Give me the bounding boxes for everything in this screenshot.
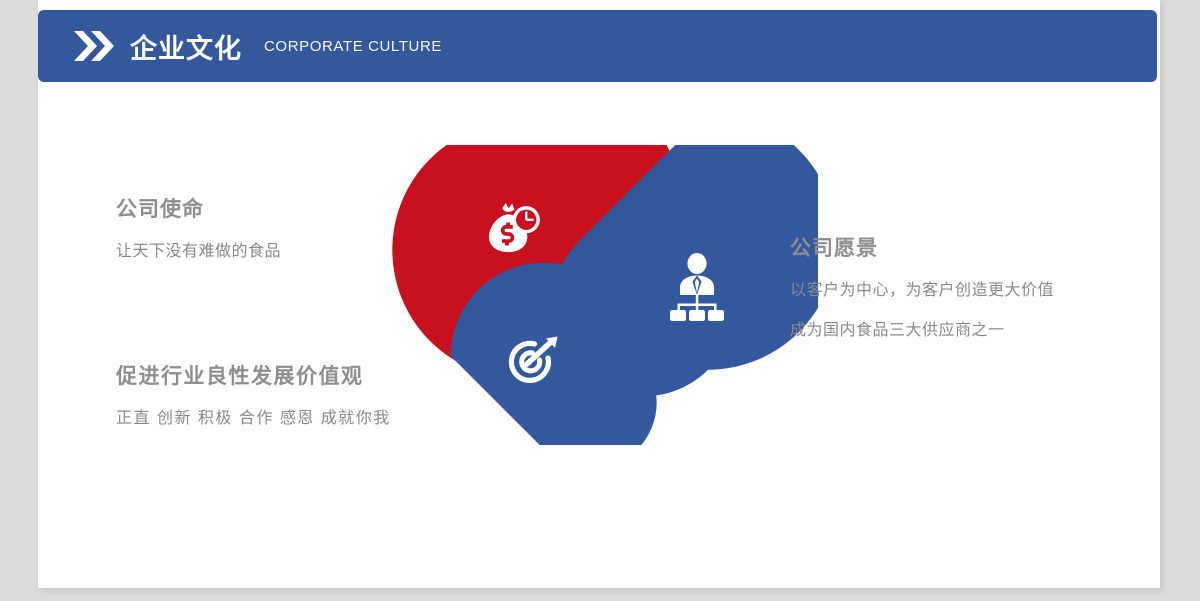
text-block-values: 促进行业良性发展价值观 正直 创新 积极 合作 感恩 成就你我 (116, 360, 391, 428)
vision-heading: 公司愿景 (790, 232, 1054, 262)
text-block-mission: 公司使命 让天下没有难做的食品 (116, 193, 281, 261)
corporate-culture-diagram (378, 145, 818, 445)
mission-heading: 公司使命 (116, 193, 281, 223)
header-title-english: CORPORATE CULTURE (264, 38, 442, 55)
header-title-chinese: 企业文化 (130, 27, 242, 66)
double-chevron-right-icon (72, 28, 118, 64)
vision-line-2: 成为国内食品三大供应商之一 (790, 316, 1054, 340)
vision-line-1: 以客户为中心，为客户创造更大价值 (790, 276, 1054, 300)
slide-canvas: 企业文化 CORPORATE CULTURE (38, 0, 1160, 588)
mission-line-1: 让天下没有难做的食品 (116, 237, 281, 261)
values-line-1: 正直 创新 积极 合作 感恩 成就你我 (116, 404, 391, 428)
slide-header-bar: 企业文化 CORPORATE CULTURE (38, 10, 1157, 82)
text-block-vision: 公司愿景 以客户为中心，为客户创造更大价值 成为国内食品三大供应商之一 (790, 232, 1054, 340)
values-heading: 促进行业良性发展价值观 (116, 360, 391, 390)
